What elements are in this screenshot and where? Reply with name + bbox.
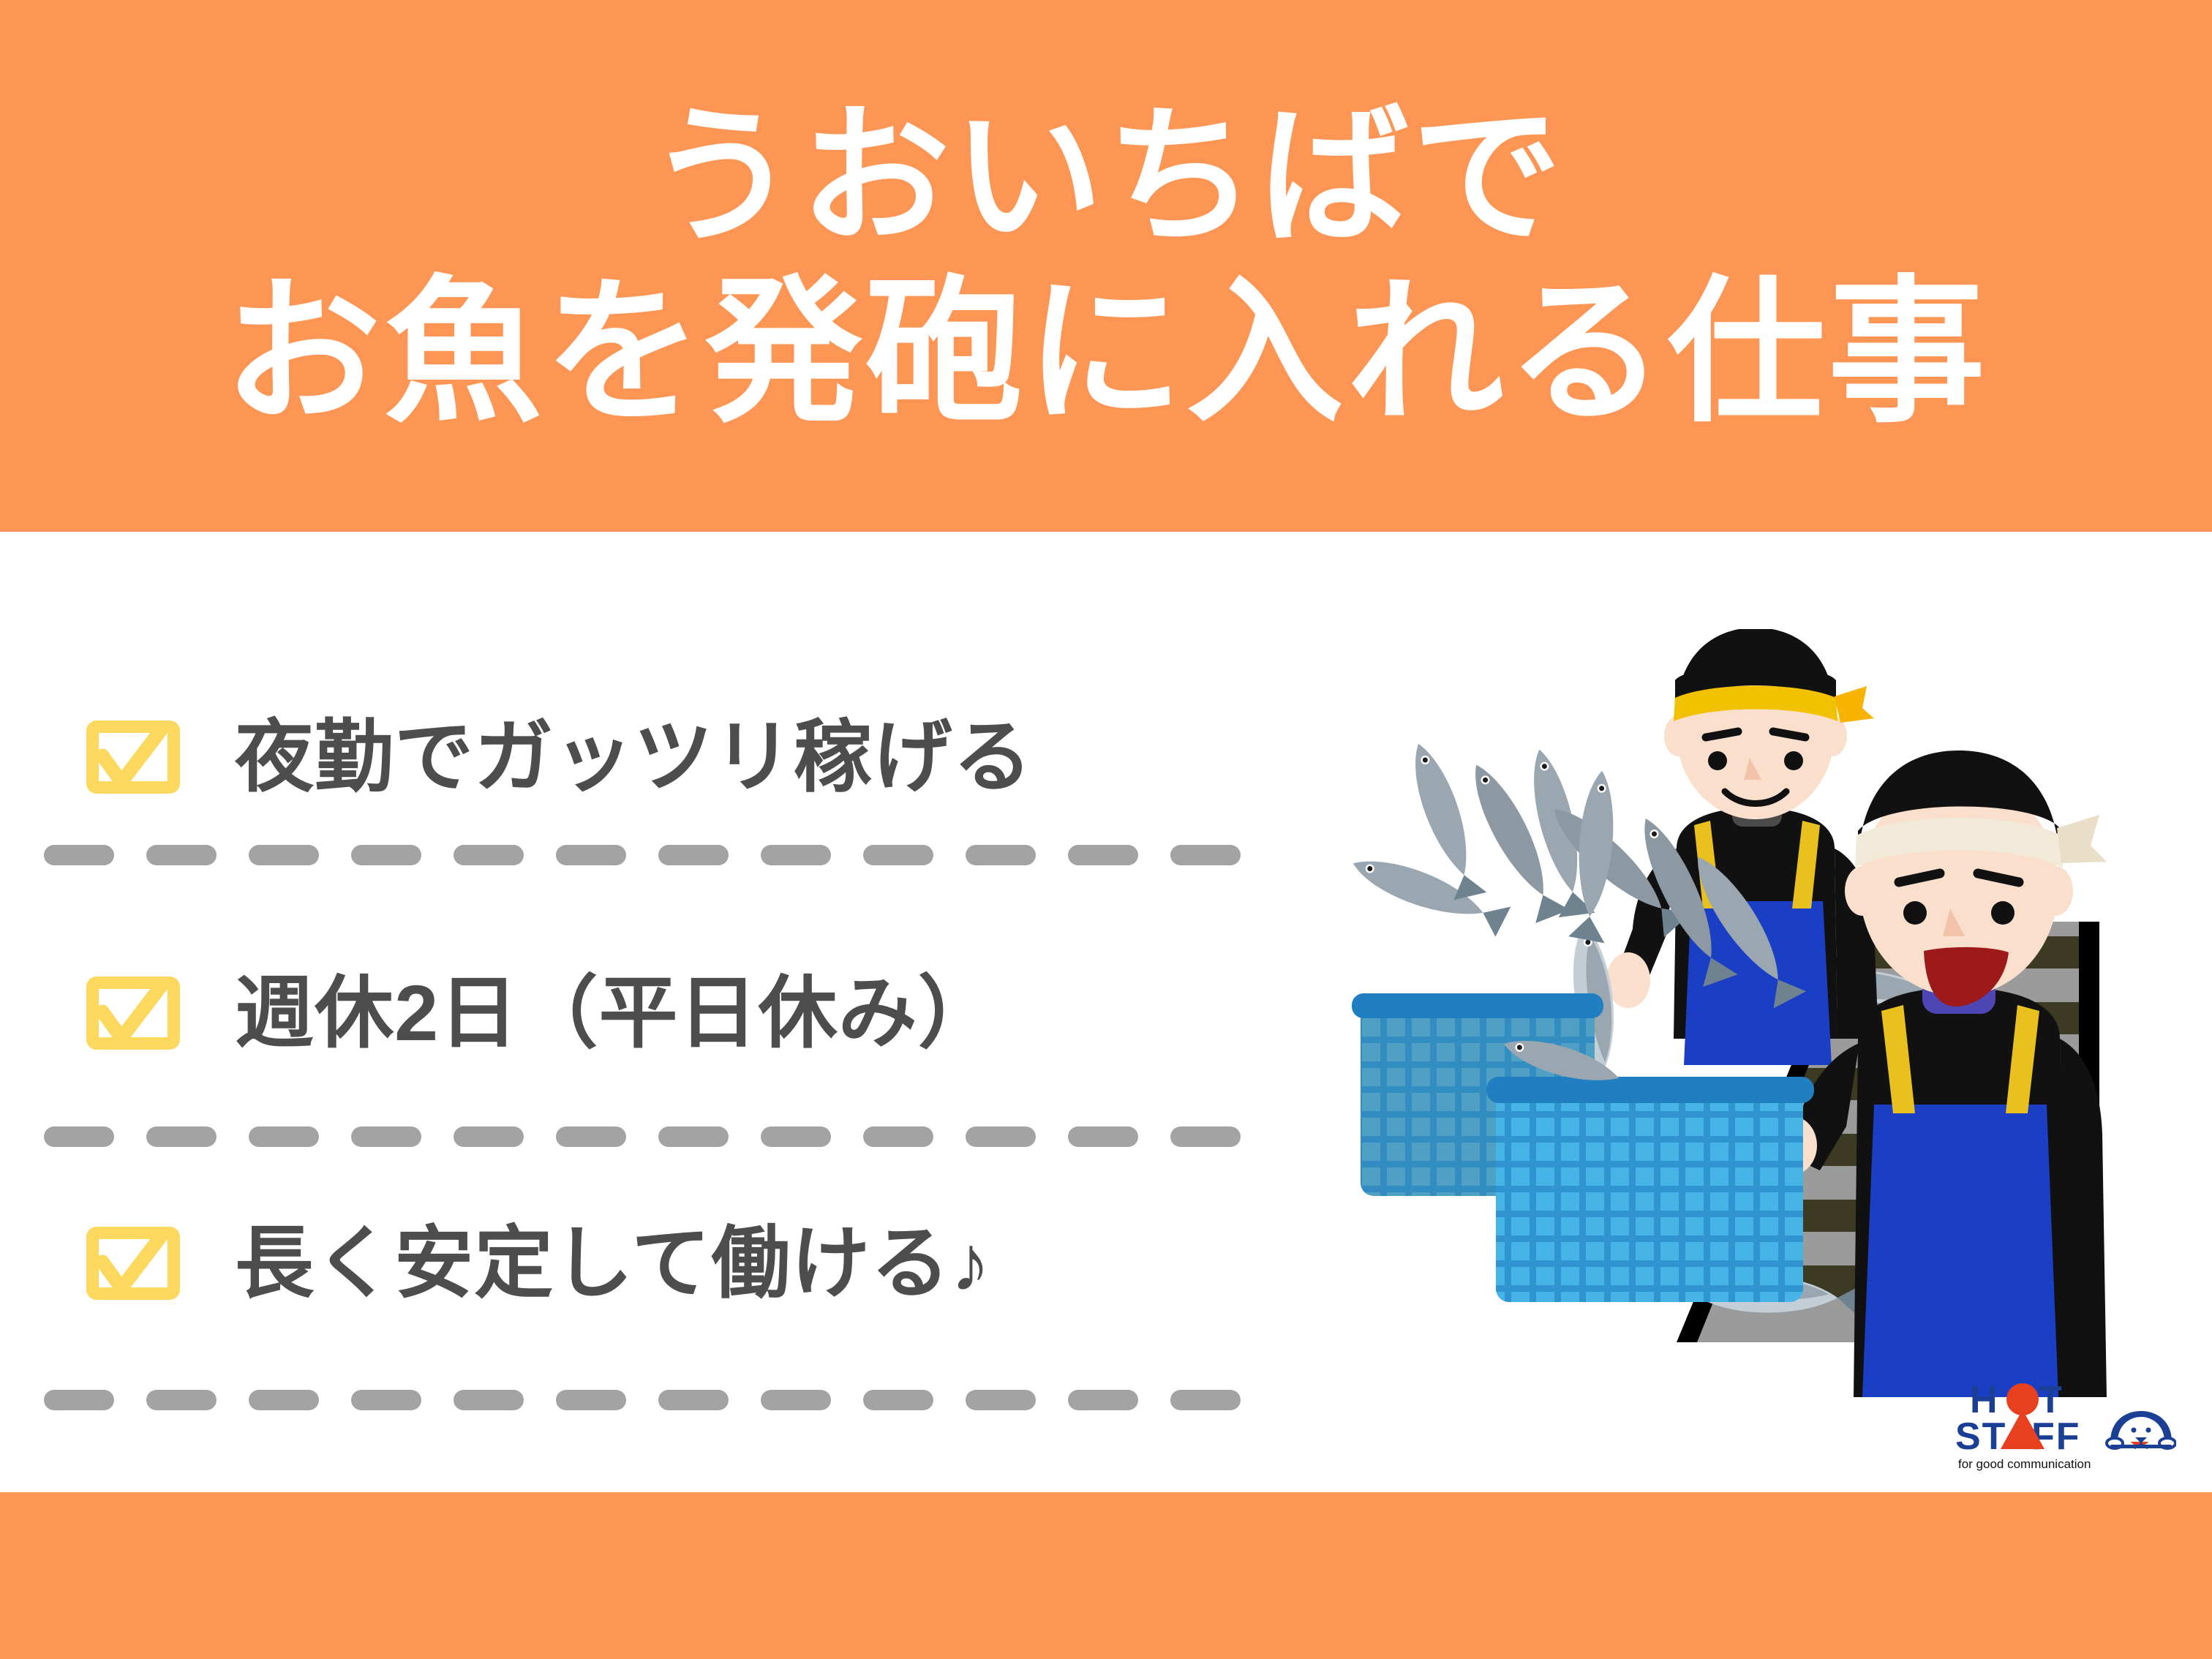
checked-box-icon [86, 1227, 180, 1300]
list-item: 長く安定して働ける♪ [0, 1194, 1317, 1333]
separator-dashed-3 [44, 1390, 1273, 1410]
logo-tagline: for good communication [1958, 1457, 2091, 1471]
hot-staff-logo: H T ST FF for good communication [1942, 1379, 2176, 1474]
separator-dashed-1 [44, 845, 1273, 865]
separator-dashed-2 [44, 1126, 1273, 1147]
list-item-label: 週休2日（平日休み） [235, 974, 998, 1053]
list-item-label: 長く安定して働ける♪ [235, 1224, 991, 1303]
svg-text:ST: ST [1955, 1415, 2006, 1458]
fish-market-workers-illustration [1346, 629, 2165, 1397]
checked-box-icon [86, 977, 180, 1050]
seal-mascot-icon [2107, 1411, 2175, 1448]
benefits-checklist: 夜勤でガッツリ稼げる 週休2日（平日休み） 長く安定して働ける♪ [0, 688, 1317, 1333]
banner-title-line-1: うおいちばで [647, 102, 1565, 252]
header-banner: うおいちばで お魚を発砲に入れる仕事 [0, 0, 2212, 532]
svg-text:FF: FF [2031, 1415, 2081, 1458]
checked-box-icon [86, 721, 180, 794]
banner-title-line-2: お魚を発砲に入れる仕事 [224, 274, 1988, 431]
list-item-label: 夜勤でガッツリ稼げる [235, 718, 1033, 797]
footer-banner [0, 1492, 2212, 1659]
list-item: 夜勤でガッツリ稼げる [0, 688, 1317, 827]
list-item: 週休2日（平日休み） [0, 944, 1317, 1083]
